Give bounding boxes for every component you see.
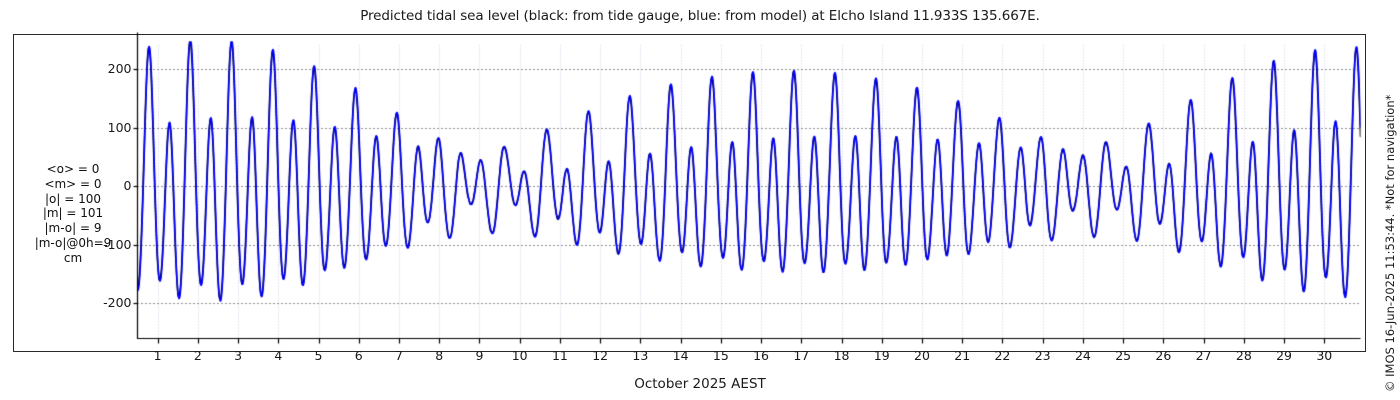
x-axis-tick-label: 19 <box>862 348 902 363</box>
y-axis-tick-label: 100 <box>74 120 132 135</box>
x-axis-tick-label: 17 <box>781 348 821 363</box>
y-axis-tick-label: -200 <box>74 295 132 310</box>
x-axis-tick-label: 23 <box>1023 348 1063 363</box>
x-axis-tick-label: 8 <box>419 348 459 363</box>
x-axis-tick-label: 7 <box>379 348 419 363</box>
x-axis-tick-label: 22 <box>982 348 1022 363</box>
x-axis-tick-label: 24 <box>1063 348 1103 363</box>
tidal-timeseries-plot <box>0 0 1400 400</box>
x-axis-tick-label: 12 <box>580 348 620 363</box>
x-axis-tick-label: 16 <box>741 348 781 363</box>
y-axis-tick-label: -100 <box>74 237 132 252</box>
x-axis-tick-label: 10 <box>500 348 540 363</box>
x-axis-tick-label: 1 <box>138 348 178 363</box>
x-axis-tick-label: 25 <box>1103 348 1143 363</box>
x-axis-tick-label: 6 <box>339 348 379 363</box>
x-axis-tick-label: 4 <box>258 348 298 363</box>
x-axis-tick-label: 13 <box>620 348 660 363</box>
x-axis-tick-label: 15 <box>701 348 741 363</box>
x-axis-tick-label: 26 <box>1143 348 1183 363</box>
x-axis-tick-label: 20 <box>902 348 942 363</box>
tidal-chart-page: Predicted tidal sea level (black: from t… <box>0 0 1400 400</box>
x-axis-tick-label: 5 <box>299 348 339 363</box>
x-axis-tick-label: 18 <box>822 348 862 363</box>
x-axis-tick-label: 28 <box>1224 348 1264 363</box>
x-axis-tick-label: 21 <box>942 348 982 363</box>
x-axis-tick-label: 14 <box>661 348 701 363</box>
x-axis-title: October 2025 AEST <box>0 376 1400 392</box>
x-axis-tick-label: 29 <box>1264 348 1304 363</box>
x-axis-tick-label: 30 <box>1304 348 1344 363</box>
copyright-notice: © IMOS 16-Jun-2025 11:53:44. *Not for na… <box>1379 0 1399 400</box>
x-axis-tick-label: 3 <box>218 348 258 363</box>
x-axis-tick-label: 9 <box>459 348 499 363</box>
x-axis-tick-label: 27 <box>1184 348 1224 363</box>
x-axis-tick-label: 11 <box>540 348 580 363</box>
x-axis-tick-label: 2 <box>178 348 218 363</box>
y-axis-tick-label: 200 <box>74 61 132 76</box>
copyright-text: © IMOS 16-Jun-2025 11:53:44. *Not for na… <box>1383 95 1397 392</box>
y-axis-tick-label: 0 <box>74 178 132 193</box>
